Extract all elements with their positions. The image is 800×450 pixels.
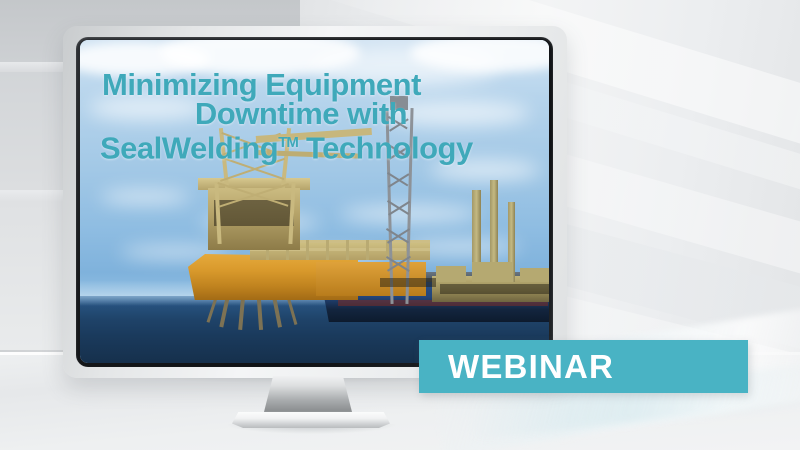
photo-process-module: [520, 268, 549, 282]
monitor-screen[interactable]: Minimizing Equipment Downtime with SealW…: [80, 40, 549, 363]
screen-title-suffix: Technology: [298, 130, 473, 165]
screen-title: Minimizing Equipment Downtime with SealW…: [100, 70, 530, 162]
webinar-banner: WEBINAR: [419, 340, 748, 393]
webinar-banner-label: WEBINAR: [419, 348, 614, 386]
photo-truss-post: [326, 240, 329, 260]
monitor-stand-base: [232, 412, 390, 428]
desktop-monitor: Minimizing Equipment Downtime with SealW…: [63, 26, 567, 378]
photo-truss-post: [306, 240, 309, 260]
photo-process-shadow: [440, 284, 549, 294]
photo-process-module: [472, 262, 512, 282]
photo-truss-post: [346, 240, 349, 260]
screen-title-line-3: SealWeldingTM Technology: [100, 128, 530, 162]
photo-process-shadow: [380, 278, 436, 287]
photo-process-module: [436, 266, 466, 282]
photo-derrick-leg: [214, 182, 221, 244]
cloud: [100, 190, 190, 204]
screen-title-brand: SealWelding: [100, 130, 278, 165]
photo-truss-post: [366, 240, 369, 260]
screen-title-line-2: Downtime with: [100, 99, 530, 128]
photo-derrick-leg: [288, 182, 295, 244]
screen-title-line-1: Minimizing Equipment: [100, 70, 530, 99]
trademark-symbol: TM: [278, 134, 298, 151]
